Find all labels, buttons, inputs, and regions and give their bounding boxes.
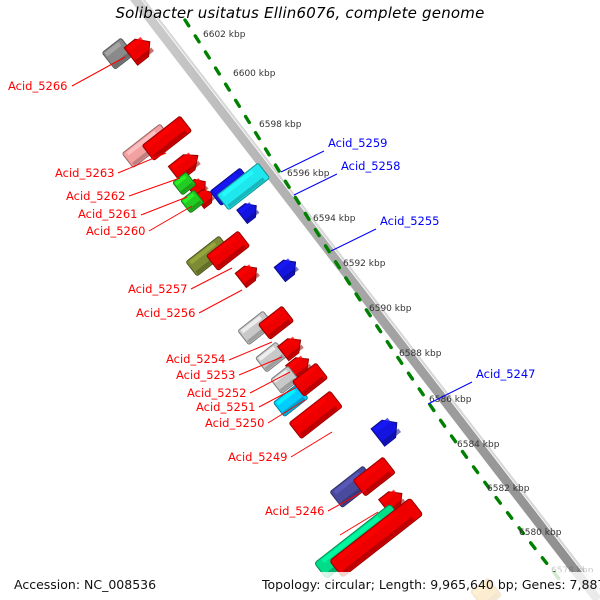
feature-red-g[interactable] <box>206 231 249 271</box>
gene-label-acid-5258[interactable]: Acid_5258 <box>341 159 401 173</box>
tick-label: 6600 kbp <box>233 69 276 79</box>
leader-line-acid-5255 <box>331 229 376 251</box>
status-bar: Accession: NC_008536 Topology: circular;… <box>0 572 600 600</box>
gene-label-acid-5255[interactable]: Acid_5255 <box>380 214 440 228</box>
feature-red-a[interactable] <box>124 33 156 65</box>
gene-label-acid-5253[interactable]: Acid_5253 <box>176 368 236 382</box>
tick-label: 6580 kbp <box>519 528 562 538</box>
gene-label-acid-5256[interactable]: Acid_5256 <box>136 306 196 320</box>
tick-label: 6588 kbp <box>399 349 442 359</box>
gene-label-acid-5251[interactable]: Acid_5251 <box>196 400 256 414</box>
tick-label: 6596 kbp <box>287 169 330 179</box>
tick-label: 6582 kbp <box>487 484 530 494</box>
gene-label-layer[interactable]: Acid_5266 Acid_5263 Acid_5262 Acid_5261 … <box>8 79 536 518</box>
leader-line-acid-5249 <box>291 432 332 457</box>
gene-label-acid-5247[interactable]: Acid_5246 <box>265 504 325 518</box>
feature-red-h[interactable] <box>235 261 262 287</box>
gene-label-acid-5263[interactable]: Acid_5263 <box>55 166 115 180</box>
feature-blue-5255[interactable] <box>274 255 301 281</box>
genome-map-viewer: 6602 kbp 6600 kbp 6598 kbp 6596 kbp 6594… <box>0 0 600 600</box>
gene-label-acid-5260[interactable]: Acid_5260 <box>86 224 146 238</box>
map-svg: 6602 kbp 6600 kbp 6598 kbp 6596 kbp 6594… <box>0 0 600 600</box>
feature-red-p[interactable] <box>330 498 423 577</box>
feature-body[interactable] <box>330 498 423 577</box>
feature-red-i[interactable] <box>258 306 293 339</box>
gene-label-acid-5252[interactable]: Acid_5252 <box>187 386 247 400</box>
feature-blue-5248[interactable] <box>371 414 403 446</box>
gene-label-acid-5266[interactable]: Acid_5266 <box>8 79 68 93</box>
accession-text: Accession: NC_008536 <box>14 577 156 592</box>
leader-line-acid-5261 <box>141 197 187 215</box>
leader-line-acid-5266 <box>72 57 125 86</box>
page-title: Solibacter usitatus Ellin6076, complete … <box>0 4 600 22</box>
leader-line-acid-5256 <box>199 290 242 313</box>
tick-label: 6584 kbp <box>457 440 500 450</box>
feature-blue-f[interactable] <box>237 199 262 223</box>
gene-label-acid-5262[interactable]: Acid_5262 <box>66 189 126 203</box>
gene-label-acid-5254[interactable]: Acid_5254 <box>166 352 226 366</box>
tick-label: 6602 kbp <box>203 30 246 40</box>
genome-backbone[interactable] <box>128 0 600 600</box>
gene-label-acid-5249[interactable]: Acid_5249 <box>228 450 288 464</box>
genome-map-canvas[interactable]: 6602 kbp 6600 kbp 6598 kbp 6596 kbp 6594… <box>0 0 600 600</box>
leader-line-acid-5262 <box>129 178 180 196</box>
gene-label-acid-5248[interactable]: Acid_5247 <box>476 367 536 381</box>
tick-label: 6592 kbp <box>343 259 386 269</box>
tick-label: 6594 kbp <box>313 214 356 224</box>
tick-label: 6598 kbp <box>259 120 302 130</box>
tick-label: 6590 kbp <box>369 304 412 314</box>
topology-text: Topology: circular; Length: 9,965,640 bp… <box>262 577 600 592</box>
feature-body[interactable] <box>206 231 249 271</box>
gene-label-acid-5259[interactable]: Acid_5259 <box>328 136 388 150</box>
gene-label-acid-5257[interactable]: Acid_5257 <box>128 282 188 296</box>
gene-label-acid-5261[interactable]: Acid_5261 <box>78 207 138 221</box>
gene-label-acid-5250[interactable]: Acid_5250 <box>205 416 265 430</box>
